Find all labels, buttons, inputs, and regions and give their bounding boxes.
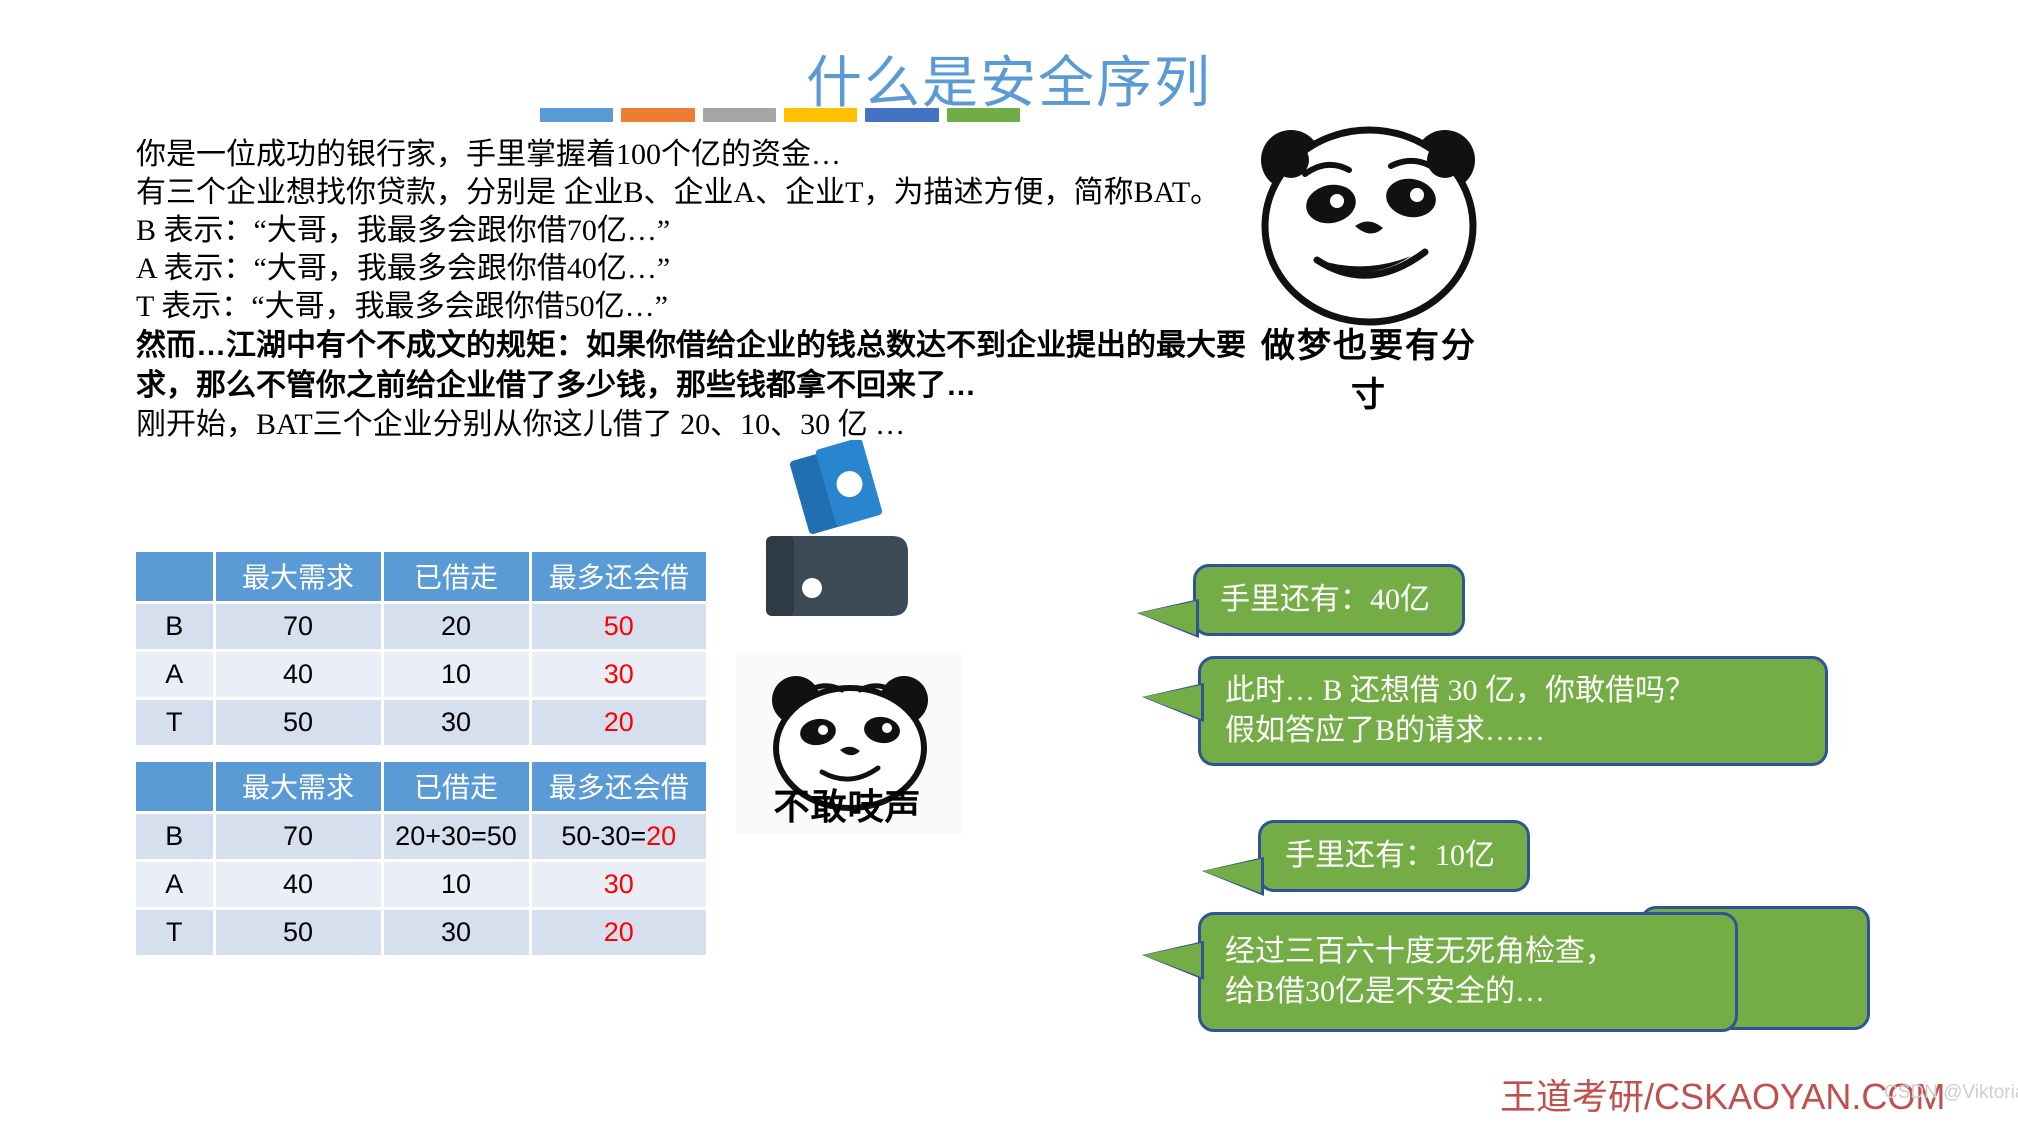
table-after-loan-state: 最大需求 已借走 最多还会借 B 70 20+30=50 50-30=20 A … [136, 762, 706, 958]
cell-company: T [136, 908, 214, 956]
header-max-need: 最大需求 [214, 552, 382, 602]
panda-dream-meme-image [1245, 118, 1493, 330]
cell-max-need: 50 [214, 698, 382, 746]
title-divider-bars [540, 108, 1020, 122]
callout-ask-text: 此时… B 还想借 30 亿，你敢借吗？ 假如答应了B的请求…… [1225, 671, 1695, 751]
story-line-4: A 表示：“大哥，我最多会跟你借40亿…” [136, 250, 1246, 288]
cell-max-need: 70 [214, 812, 382, 860]
cell-company: B [136, 602, 214, 650]
table-header-row: 最大需求 已借走 最多还会借 [136, 552, 706, 602]
hand-holding-cash-icon [752, 440, 952, 630]
callout-cash-first-text: 手里还有：40亿 [1220, 580, 1430, 620]
story-initial-loans: 刚开始，BAT三个企业分别从你这儿借了 20、10、30 亿 … [136, 406, 1246, 444]
footer-brand: 王道考研/CSKAOYAN.COM [1500, 1068, 1945, 1120]
callout-cash-second-text: 手里还有：10亿 [1285, 836, 1495, 876]
callout-ask-line-1: 此时… B 还想借 30 亿，你敢借吗？ [1225, 674, 1695, 707]
header-borrowed: 已借走 [382, 762, 530, 812]
header-company [136, 552, 214, 602]
callout-cash-remaining-second: 手里还有：10亿 [1258, 820, 1530, 892]
page-title: 什么是安全序列 [0, 38, 2018, 119]
cell-borrowed: 30 [382, 698, 530, 746]
title-bar-3 [703, 108, 776, 122]
callout-check-text: 经过三百六十度无死角检查， 给B借30亿是不安全的… [1225, 932, 1615, 1012]
cell-borrowed: 30 [382, 908, 530, 956]
cell-borrowed: 20 [382, 602, 530, 650]
cell-max-need: 40 [214, 650, 382, 698]
callout-b-requests-more: 此时… B 还想借 30 亿，你敢借吗？ 假如答应了B的请求…… [1198, 656, 1828, 766]
panda-dream-caption: 做梦也要有分寸 [1245, 318, 1493, 416]
header-borrowed: 已借走 [382, 552, 530, 602]
callout-safety-check-result: 经过三百六十度无死角检查， 给B借30亿是不安全的… [1198, 912, 1738, 1032]
story-line-5: T 表示：“大哥，我最多会跟你借50亿…” [136, 288, 1246, 326]
cell-max-need: 40 [214, 860, 382, 908]
table-row: T 50 30 20 [136, 908, 706, 956]
cell-max-need: 50 [214, 908, 382, 956]
cell-company: A [136, 860, 214, 908]
title-bar-2 [621, 108, 694, 122]
callout-tail-icon [1203, 859, 1261, 893]
story-line-1: 你是一位成功的银行家，手里掌握着100个亿的资金… [136, 136, 1246, 174]
callout-check-line-2: 给B借30亿是不安全的… [1225, 975, 1545, 1008]
cell-remaining-expr: 50-30= [561, 821, 646, 851]
table-row: T 50 30 20 [136, 698, 706, 746]
story-text-block: 你是一位成功的银行家，手里掌握着100个亿的资金… 有三个企业想找你贷款，分别是… [136, 136, 1246, 444]
callout-tail-icon [1138, 601, 1196, 635]
table-row: A 40 10 30 [136, 650, 706, 698]
table-row: B 70 20+30=50 50-30=20 [136, 812, 706, 860]
cell-remaining: 20 [530, 908, 706, 956]
cell-remaining: 30 [530, 650, 706, 698]
title-bar-5 [865, 108, 938, 122]
header-company [136, 762, 214, 812]
callout-tail-icon [1143, 943, 1201, 977]
cell-remaining: 50 [530, 602, 706, 650]
panda-silent-caption: 不敢吱声 [740, 778, 955, 830]
callout-tail-icon [1143, 685, 1201, 719]
cell-borrowed: 10 [382, 860, 530, 908]
footer-watermark: CSDN @Viktoriae [1884, 1082, 2018, 1104]
cell-remaining: 50-30=20 [530, 812, 706, 860]
cell-max-need: 70 [214, 602, 382, 650]
table-initial-state: 最大需求 已借走 最多还会借 B 70 20 50 A 40 10 30 T 5… [136, 552, 706, 748]
cell-remaining: 20 [530, 698, 706, 746]
cell-borrowed: 20+30=50 [382, 812, 530, 860]
header-remaining: 最多还会借 [530, 762, 706, 812]
title-bar-4 [784, 108, 857, 122]
cell-company: T [136, 698, 214, 746]
cell-borrowed: 10 [382, 650, 530, 698]
table-header-row: 最大需求 已借走 最多还会借 [136, 762, 706, 812]
cell-company: A [136, 650, 214, 698]
callout-cash-remaining-first: 手里还有：40亿 [1193, 564, 1465, 636]
callout-check-line-1: 经过三百六十度无死角检查， [1225, 935, 1615, 968]
title-bar-6 [947, 108, 1020, 122]
callout-ask-line-2: 假如答应了B的请求…… [1225, 714, 1545, 747]
table-row: B 70 20 50 [136, 602, 706, 650]
story-line-3: B 表示：“大哥，我最多会跟你借70亿…” [136, 212, 1246, 250]
title-bar-1 [540, 108, 613, 122]
story-line-2: 有三个企业想找你贷款，分别是 企业B、企业A、企业T，为描述方便，简称BAT。 [136, 174, 1246, 212]
cell-company: B [136, 812, 214, 860]
cell-remaining-value: 20 [646, 821, 676, 851]
header-max-need: 最大需求 [214, 762, 382, 812]
story-rule-emphasis: 然而…江湖中有个不成文的规矩：如果你借给企业的钱总数达不到企业提出的最大要求，那… [136, 326, 1246, 406]
header-remaining: 最多还会借 [530, 552, 706, 602]
table-row: A 40 10 30 [136, 860, 706, 908]
cell-remaining: 30 [530, 860, 706, 908]
